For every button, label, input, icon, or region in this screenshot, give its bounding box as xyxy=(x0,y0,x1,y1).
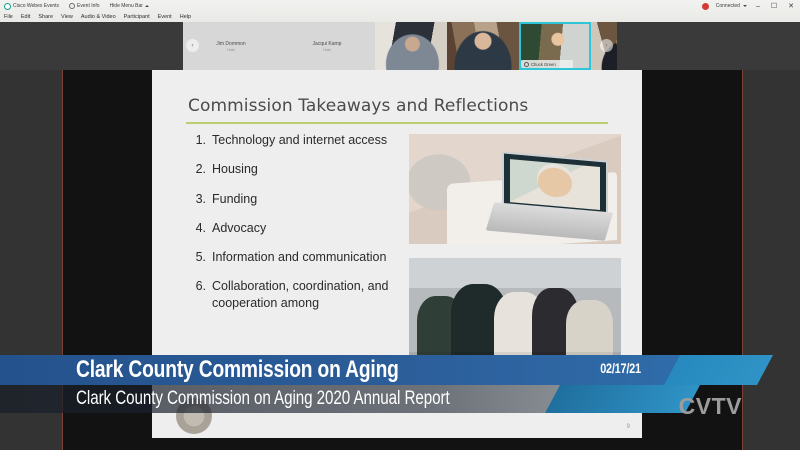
recording-indicator-icon[interactable] xyxy=(702,3,709,10)
menu-item-file[interactable]: File xyxy=(4,14,13,20)
participant-filmstrip: Jim Dommon Host Jacqui Kamp Host Chuck G… xyxy=(0,22,800,70)
event-info-label: Event Info xyxy=(77,3,100,9)
menu-item-edit[interactable]: Edit xyxy=(21,14,30,20)
slide-photo-gathering xyxy=(409,258,621,358)
webex-logo-icon xyxy=(4,3,11,10)
list-text: Advocacy xyxy=(212,221,266,235)
participant-name-plate: Chuck Green xyxy=(521,60,573,68)
participant-name: Jacqui Kamp xyxy=(313,41,342,47)
slide-list-item: 4. Advocacy xyxy=(186,220,401,236)
connection-status[interactable]: Connected xyxy=(716,3,747,9)
app-title-label: Cisco Webex Events xyxy=(13,3,59,9)
menu-item-help[interactable]: Help xyxy=(180,14,191,20)
participant-name: Jim Dommon xyxy=(216,41,245,47)
menu-item-participant[interactable]: Participant xyxy=(124,14,150,20)
participant-role: Host xyxy=(227,48,234,52)
list-text: Technology and internet access xyxy=(212,133,387,147)
microphone-icon xyxy=(524,62,529,67)
info-icon xyxy=(69,3,75,9)
slide-list-item: 6. Collaboration, coordination, and coop… xyxy=(186,278,401,311)
menu-item-audio-video[interactable]: Audio & Video xyxy=(81,14,116,20)
stage-left-letterbox xyxy=(0,70,63,450)
participant-role: Host xyxy=(323,48,330,52)
hide-menu-bar-label: Hide Menu Bar xyxy=(110,3,143,9)
list-number: 4. xyxy=(186,220,206,236)
list-number: 2. xyxy=(186,161,206,177)
broadcaster-logo: CVTV xyxy=(679,393,742,420)
titlebar-top-row: Cisco Webex Events Event Info Hide Menu … xyxy=(0,0,800,12)
list-text: Information and communication xyxy=(212,250,386,264)
list-number: 3. xyxy=(186,191,206,207)
chevron-up-icon xyxy=(145,5,149,7)
chevron-right-icon: › xyxy=(606,43,608,49)
list-number: 6. xyxy=(186,278,206,294)
list-number: 5. xyxy=(186,249,206,265)
slide-list-item: 1. Technology and internet access xyxy=(186,132,401,148)
slide-title-underline xyxy=(186,122,608,124)
close-button[interactable]: ✕ xyxy=(786,3,796,10)
presentation-slide[interactable]: Commission Takeaways and Reflections 1. … xyxy=(152,70,642,438)
menu-item-share[interactable]: Share xyxy=(38,14,53,20)
participant-video-tile[interactable] xyxy=(375,22,447,70)
participant-video-tile[interactable] xyxy=(447,22,519,70)
menu-bar[interactable]: File Edit Share View Audio & Video Parti… xyxy=(4,12,191,22)
slide-title: Commission Takeaways and Reflections xyxy=(188,96,528,116)
window-titlebar: Cisco Webex Events Event Info Hide Menu … xyxy=(0,0,800,23)
slide-list-item: 5. Information and communication xyxy=(186,249,401,265)
maximize-button[interactable]: ☐ xyxy=(769,3,779,10)
list-text: Funding xyxy=(212,192,257,206)
photo-person-shape xyxy=(566,300,613,358)
menu-item-view[interactable]: View xyxy=(61,14,73,20)
minimize-button[interactable]: – xyxy=(754,3,762,10)
menu-item-event[interactable]: Event xyxy=(158,14,172,20)
filmstrip-track[interactable]: Jim Dommon Host Jacqui Kamp Host Chuck G… xyxy=(183,22,617,70)
slide-list-item: 3. Funding xyxy=(186,191,401,207)
slide-bullet-list: 1. Technology and internet access 2. Hou… xyxy=(186,132,401,324)
webex-event-window: Cisco Webex Events Event Info Hide Menu … xyxy=(0,0,800,450)
slide-photo-video-call xyxy=(409,134,621,244)
hide-menu-bar-button[interactable]: Hide Menu Bar xyxy=(110,3,149,9)
chevron-left-icon: ‹ xyxy=(192,43,194,49)
list-number: 1. xyxy=(186,132,206,148)
county-seal-watermark xyxy=(176,398,212,434)
participant-tile[interactable]: Jacqui Kamp Host xyxy=(279,22,375,70)
stage-right-letterbox xyxy=(742,70,800,450)
participant-video-tile-active[interactable]: Chuck Green xyxy=(519,22,591,70)
photo-foreground-bar xyxy=(409,352,621,358)
list-text: Housing xyxy=(212,162,258,176)
titlebar-right-controls: Connected – ☐ ✕ xyxy=(702,0,796,12)
filmstrip-next-arrow[interactable]: › xyxy=(600,39,613,52)
list-text: Collaboration, coordination, and coopera… xyxy=(212,279,389,309)
app-title: Cisco Webex Events xyxy=(4,3,59,10)
slide-page-number: 9 xyxy=(627,424,630,430)
connection-status-label: Connected xyxy=(716,3,740,9)
filmstrip-prev-arrow[interactable]: ‹ xyxy=(186,39,199,52)
event-info-button[interactable]: Event Info xyxy=(69,3,100,9)
participant-name: Chuck Green xyxy=(531,62,556,67)
slide-list-item: 2. Housing xyxy=(186,161,401,177)
chevron-down-icon xyxy=(743,5,747,7)
